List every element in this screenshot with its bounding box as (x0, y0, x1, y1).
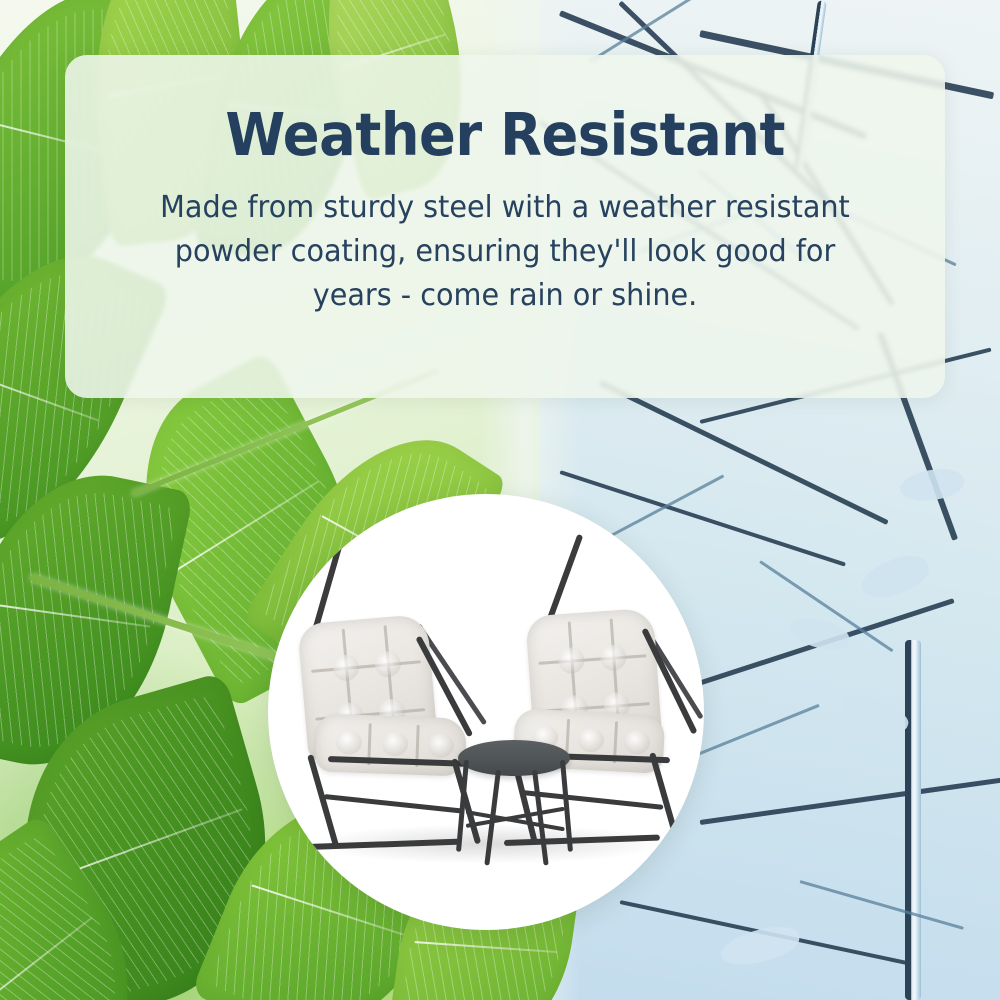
text-card: Weather Resistant Made from sturdy steel… (65, 55, 945, 398)
marketing-banner: Weather Resistant Made from sturdy steel… (0, 0, 1000, 1000)
patio-furniture-set (268, 494, 704, 930)
cushion-seat-left (315, 713, 467, 776)
product-image-circle (268, 494, 704, 930)
page-title: Weather Resistant (225, 105, 785, 164)
table-top (458, 740, 570, 776)
body-line-3: years - come rain or shine. (115, 274, 895, 318)
body-line-1: Made from sturdy steel with a weather re… (115, 186, 895, 230)
body-line-2: powder coating, ensuring they'll look go… (115, 230, 895, 274)
body-copy: Made from sturdy steel with a weather re… (115, 186, 895, 318)
